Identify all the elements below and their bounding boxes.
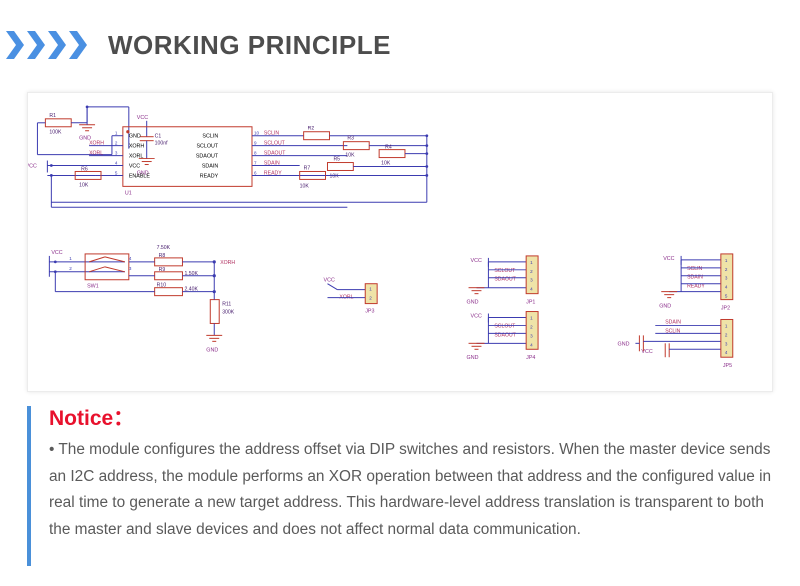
sw-pin-num-4: 4 [129, 256, 132, 261]
comp-ref-r6: R6 [81, 166, 88, 172]
net-label-vcc: VCC [137, 115, 148, 121]
page-title: WORKING PRINCIPLE [108, 30, 391, 61]
ic-pin-name-sdaout: SDAOUT [196, 154, 219, 160]
schematic-diagram: .w { stroke:#3b3bb0; stroke-width:1; fil… [28, 93, 772, 391]
comp-val-r8: 7.50K [157, 245, 171, 251]
comp-ref-r10: R10 [157, 283, 167, 289]
comp-val-r11: 300K [222, 310, 235, 316]
ic-pin-num-2: 2 [115, 141, 118, 146]
chevron-arrows-group [6, 29, 90, 61]
comp-ref-r9: R9 [159, 267, 166, 273]
net-label-gnd: GND [659, 304, 671, 310]
net-label-ready: READY [687, 284, 705, 290]
page-root: WORKING PRINCIPLE .w { stroke:#3b3bb0; s… [0, 0, 800, 586]
net-label-vcc: VCC [51, 250, 62, 256]
chevron-right-icon [6, 29, 25, 61]
net-label-xorh: XORH [220, 260, 235, 266]
net-label-xorl: XORL [89, 151, 103, 157]
ic-pin-name-sclout: SCLOUT [196, 144, 218, 150]
ic-pin-name-gnd: GND [129, 134, 141, 140]
net-label-sclin: SCLIN [687, 266, 702, 272]
net-label-gnd: GND [206, 347, 218, 353]
ic-refdes-u1: U1 [125, 190, 132, 196]
net-label-vcc: VCC [663, 256, 674, 262]
net-label-vcc: VCC [641, 349, 652, 355]
comp-ref-r1: R1 [49, 113, 56, 119]
comp-ref-r5: R5 [333, 157, 340, 163]
net-label-vcc: VCC [471, 258, 482, 264]
net-label-vcc: VCC [324, 278, 335, 284]
ic-pin-name-vcc: VCC [129, 164, 140, 170]
comp-ref-r2: R2 [308, 126, 315, 132]
connector-jp1: VCC SCLOUT SDAOUT GND 1 2 3 4 JP1 [467, 256, 539, 306]
net-label-gnd: GND [467, 300, 479, 306]
sw-pin-num-3: 3 [129, 266, 132, 271]
net-label-xorh: XORH [89, 141, 104, 147]
comp-ref-c1: C1 [155, 134, 162, 140]
comp-ref-r8: R8 [159, 253, 166, 259]
ic-pin-num-9: 9 [254, 141, 257, 146]
sw-refdes-sw1: SW1 [87, 284, 99, 290]
resistor-network-right: SCLIN SCLOUT SDAOUT SDAIN READY R2 R3 10… [51, 126, 428, 203]
comp-val-r7: 10K [300, 183, 310, 189]
ic-u1: GND XORH XORL VCC ENABLE 1 2 3 4 5 SCLIN… [89, 127, 259, 197]
connector-jp2: VCC SCLIN SDAIN READY GND 1 2 3 4 5 JP2 [659, 254, 733, 312]
connector-refdes-jp2: JP2 [721, 306, 730, 312]
notice-body-text: • The module configures the address offs… [49, 437, 773, 543]
ic-pin-num-4: 4 [115, 161, 118, 166]
ic-pin-num-1: 1 [115, 131, 118, 136]
connector-refdes-jp3: JP3 [365, 309, 374, 315]
ic-pin-num-3: 3 [115, 151, 118, 156]
net-label-gnd: GND [618, 341, 630, 347]
schematic-panel: .w { stroke:#3b3bb0; stroke-width:1; fil… [27, 92, 773, 392]
comp-ref-r7: R7 [304, 165, 311, 171]
connector-jp3: VCC XORL 1 2 JP3 [324, 278, 378, 315]
notice-block: Notice： • The module configures the addr… [27, 406, 773, 566]
comp-val-r1: 100K [49, 130, 62, 136]
connector-refdes-jp4: JP4 [526, 355, 535, 361]
comp-ref-r4: R4 [385, 145, 392, 151]
ic-pin-num-5: 5 [115, 170, 118, 175]
ic-pin-num-7: 7 [254, 161, 257, 166]
section-header: WORKING PRINCIPLE [0, 22, 800, 68]
ic-pin-name-xorl: XORL [129, 154, 144, 160]
chevron-right-icon [27, 29, 46, 61]
chevron-right-icon [48, 29, 67, 61]
sw-pin-num-2: 2 [69, 266, 72, 271]
net-label-sclout: SCLOUT [494, 323, 516, 329]
chevron-right-icon [69, 29, 88, 61]
ic-pin-name-enable: ENABLE [129, 173, 151, 179]
net-label-gnd: GND [467, 355, 479, 361]
net-label-vcc: VCC [28, 164, 37, 170]
comp-val-r6: 10K [79, 182, 89, 188]
connector-jp5: SDAIN SCLIN GND VCC 1 2 3 4 JP5 [618, 319, 733, 369]
sw-pin-num-1: 1 [69, 256, 72, 261]
comp-val-r5: 10K [329, 173, 339, 179]
comp-ref-r3: R3 [347, 136, 354, 142]
ic-pin-name-xorh: XORH [129, 144, 145, 150]
net-label-sdain: SDAIN [665, 319, 681, 325]
net-label-sclout: SCLOUT [494, 268, 516, 274]
ic-pin-name-sdain: SDAIN [202, 164, 219, 170]
ic-pin-num-10: 10 [254, 131, 260, 136]
ic-pin-num-8: 8 [254, 151, 257, 156]
connector-refdes-jp5: JP5 [723, 363, 732, 369]
connector-refdes-jp1: JP1 [526, 300, 535, 306]
ic-pin-num-6: 6 [254, 170, 257, 175]
ic-pin-name-sclin: SCLIN [202, 134, 218, 140]
connector-jp4: VCC SCLOUT SDAOUT GND 1 2 3 4 JP4 [467, 312, 539, 362]
comp-val-c1: 100nf [155, 141, 168, 147]
comp-val-r3: 10K [345, 153, 355, 159]
net-label-vcc: VCC [471, 313, 482, 319]
comp-val-r4: 10K [381, 161, 391, 167]
comp-ref-r11: R11 [222, 302, 231, 308]
notice-title: Notice： [49, 406, 773, 431]
ic-pin-name-ready: READY [200, 173, 219, 179]
dip-switch-divider-circuit: VCC 1 2 SW1 4 3 7.50K R8 R9 1.50 [49, 245, 235, 353]
